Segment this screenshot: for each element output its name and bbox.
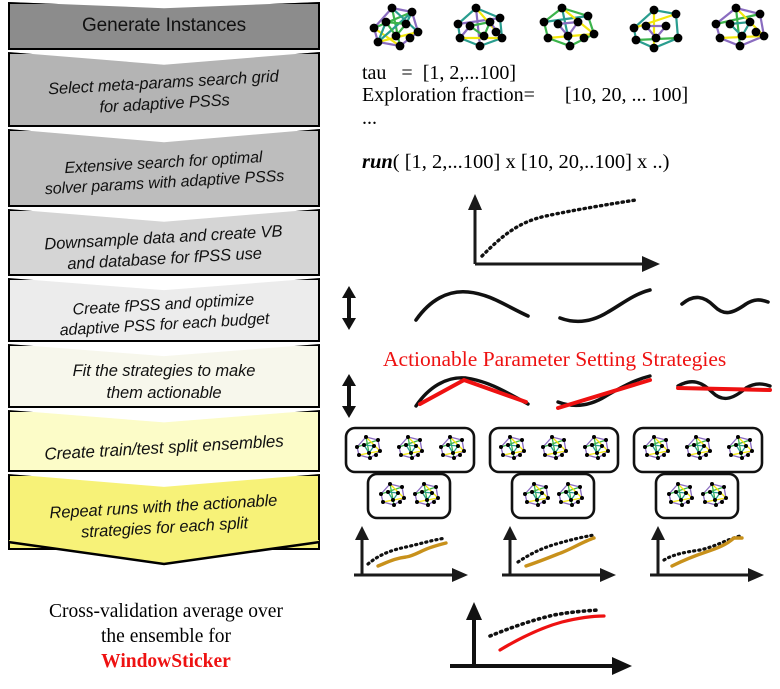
graph-instance bbox=[370, 4, 423, 51]
pipeline-flow: Generate Instances Select meta-params se… bbox=[8, 2, 324, 588]
graph-instance bbox=[540, 4, 599, 51]
flow-step: Repeat runs with the actionable strategi… bbox=[8, 474, 320, 550]
exploration-fraction-line: Exploration fraction= [10, 20, ... 100] bbox=[362, 84, 688, 107]
more-params-ellipsis: ... bbox=[362, 107, 377, 130]
chart-axes bbox=[475, 204, 646, 264]
graph-instance bbox=[454, 4, 507, 51]
flow-step: Create train/test split ensembles bbox=[8, 410, 320, 472]
raw-strategy-curve-1 bbox=[416, 292, 528, 320]
raw-strategy-curve-3 bbox=[682, 297, 768, 312]
split-result-charts bbox=[344, 520, 780, 596]
split-result-2 bbox=[502, 526, 616, 582]
fitted-strategy-2-fit bbox=[558, 380, 650, 408]
flow-step: Select meta-params search grid for adapt… bbox=[8, 52, 320, 127]
x-axis-arrowhead bbox=[612, 657, 632, 675]
ensemble-split-3 bbox=[634, 428, 762, 518]
run-function-name: run bbox=[362, 151, 393, 173]
cross-validation-average-chart bbox=[428, 598, 698, 688]
flow-caption: Cross-validation average over the ensemb… bbox=[6, 600, 326, 675]
fitted-strategy-1-fit bbox=[420, 380, 526, 404]
actionable-strategies-headline: Actionable Parameter Setting Strategies bbox=[383, 347, 726, 372]
split-result-3 bbox=[650, 526, 764, 582]
fitted-strategy-curves bbox=[412, 372, 780, 416]
baseline-curve bbox=[368, 538, 446, 564]
flow-step: Fit the strategies to make them actionab… bbox=[8, 344, 320, 408]
run-arguments: ( [1, 2,...100] x [10, 20,..100] x ..) bbox=[393, 151, 670, 173]
flow-step-label: Generate Instances bbox=[8, 14, 320, 38]
flow-step-label: Fit the strategies to make them actionab… bbox=[8, 361, 320, 403]
ensemble-split-2 bbox=[490, 428, 618, 518]
flow-step: Downsample data and create VB and databa… bbox=[8, 209, 320, 276]
fitted-strategy-2-observed bbox=[558, 376, 650, 405]
windowsticker-curve bbox=[500, 616, 604, 650]
raw-strategy-curve-2 bbox=[560, 290, 650, 321]
mapping-double-arrow bbox=[338, 286, 360, 330]
caption-product-name: WindowSticker bbox=[6, 650, 326, 675]
baseline-curve bbox=[518, 535, 594, 562]
fitted-strategy-3-fit bbox=[678, 388, 770, 390]
flow-step: Generate Instances bbox=[8, 2, 320, 50]
ensemble-split-1 bbox=[346, 428, 474, 518]
ensemble-splits bbox=[344, 426, 780, 522]
flow-bottom-notch bbox=[8, 540, 320, 566]
graph-instance bbox=[712, 4, 769, 51]
x-axis-arrowhead bbox=[642, 256, 660, 272]
run-invocation-line: run( [1, 2,...100] x [10, 20,..100] x ..… bbox=[362, 151, 670, 174]
flow-step: Create fPSS and optimize adaptive PSS fo… bbox=[8, 278, 320, 342]
fitting-double-arrow bbox=[338, 374, 360, 418]
caption-line-1: Cross-validation average over bbox=[6, 600, 326, 625]
exploration-label: Exploration fraction= bbox=[362, 84, 535, 106]
graph-instance bbox=[630, 6, 683, 53]
split-result-1 bbox=[354, 526, 468, 582]
generated-graph-instances bbox=[360, 0, 780, 60]
y-axis-arrowhead bbox=[466, 602, 482, 620]
baseline-curve bbox=[664, 536, 740, 560]
tau-parameter-line: tau = [1, 2,...100] bbox=[362, 62, 516, 85]
tau-label: tau = bbox=[362, 62, 423, 84]
raw-strategy-curves bbox=[412, 286, 780, 330]
exploration-value: [10, 20, ... 100] bbox=[535, 84, 688, 106]
search-result-chart bbox=[450, 192, 670, 278]
caption-line-2: the ensemble for bbox=[6, 625, 326, 650]
y-axis-arrowhead bbox=[468, 194, 482, 210]
baseline-curve bbox=[490, 610, 598, 636]
raw-performance-curve bbox=[482, 200, 636, 256]
flow-step: Extensive search for optimal solver para… bbox=[8, 129, 320, 207]
tau-value: [1, 2,...100] bbox=[423, 62, 516, 84]
